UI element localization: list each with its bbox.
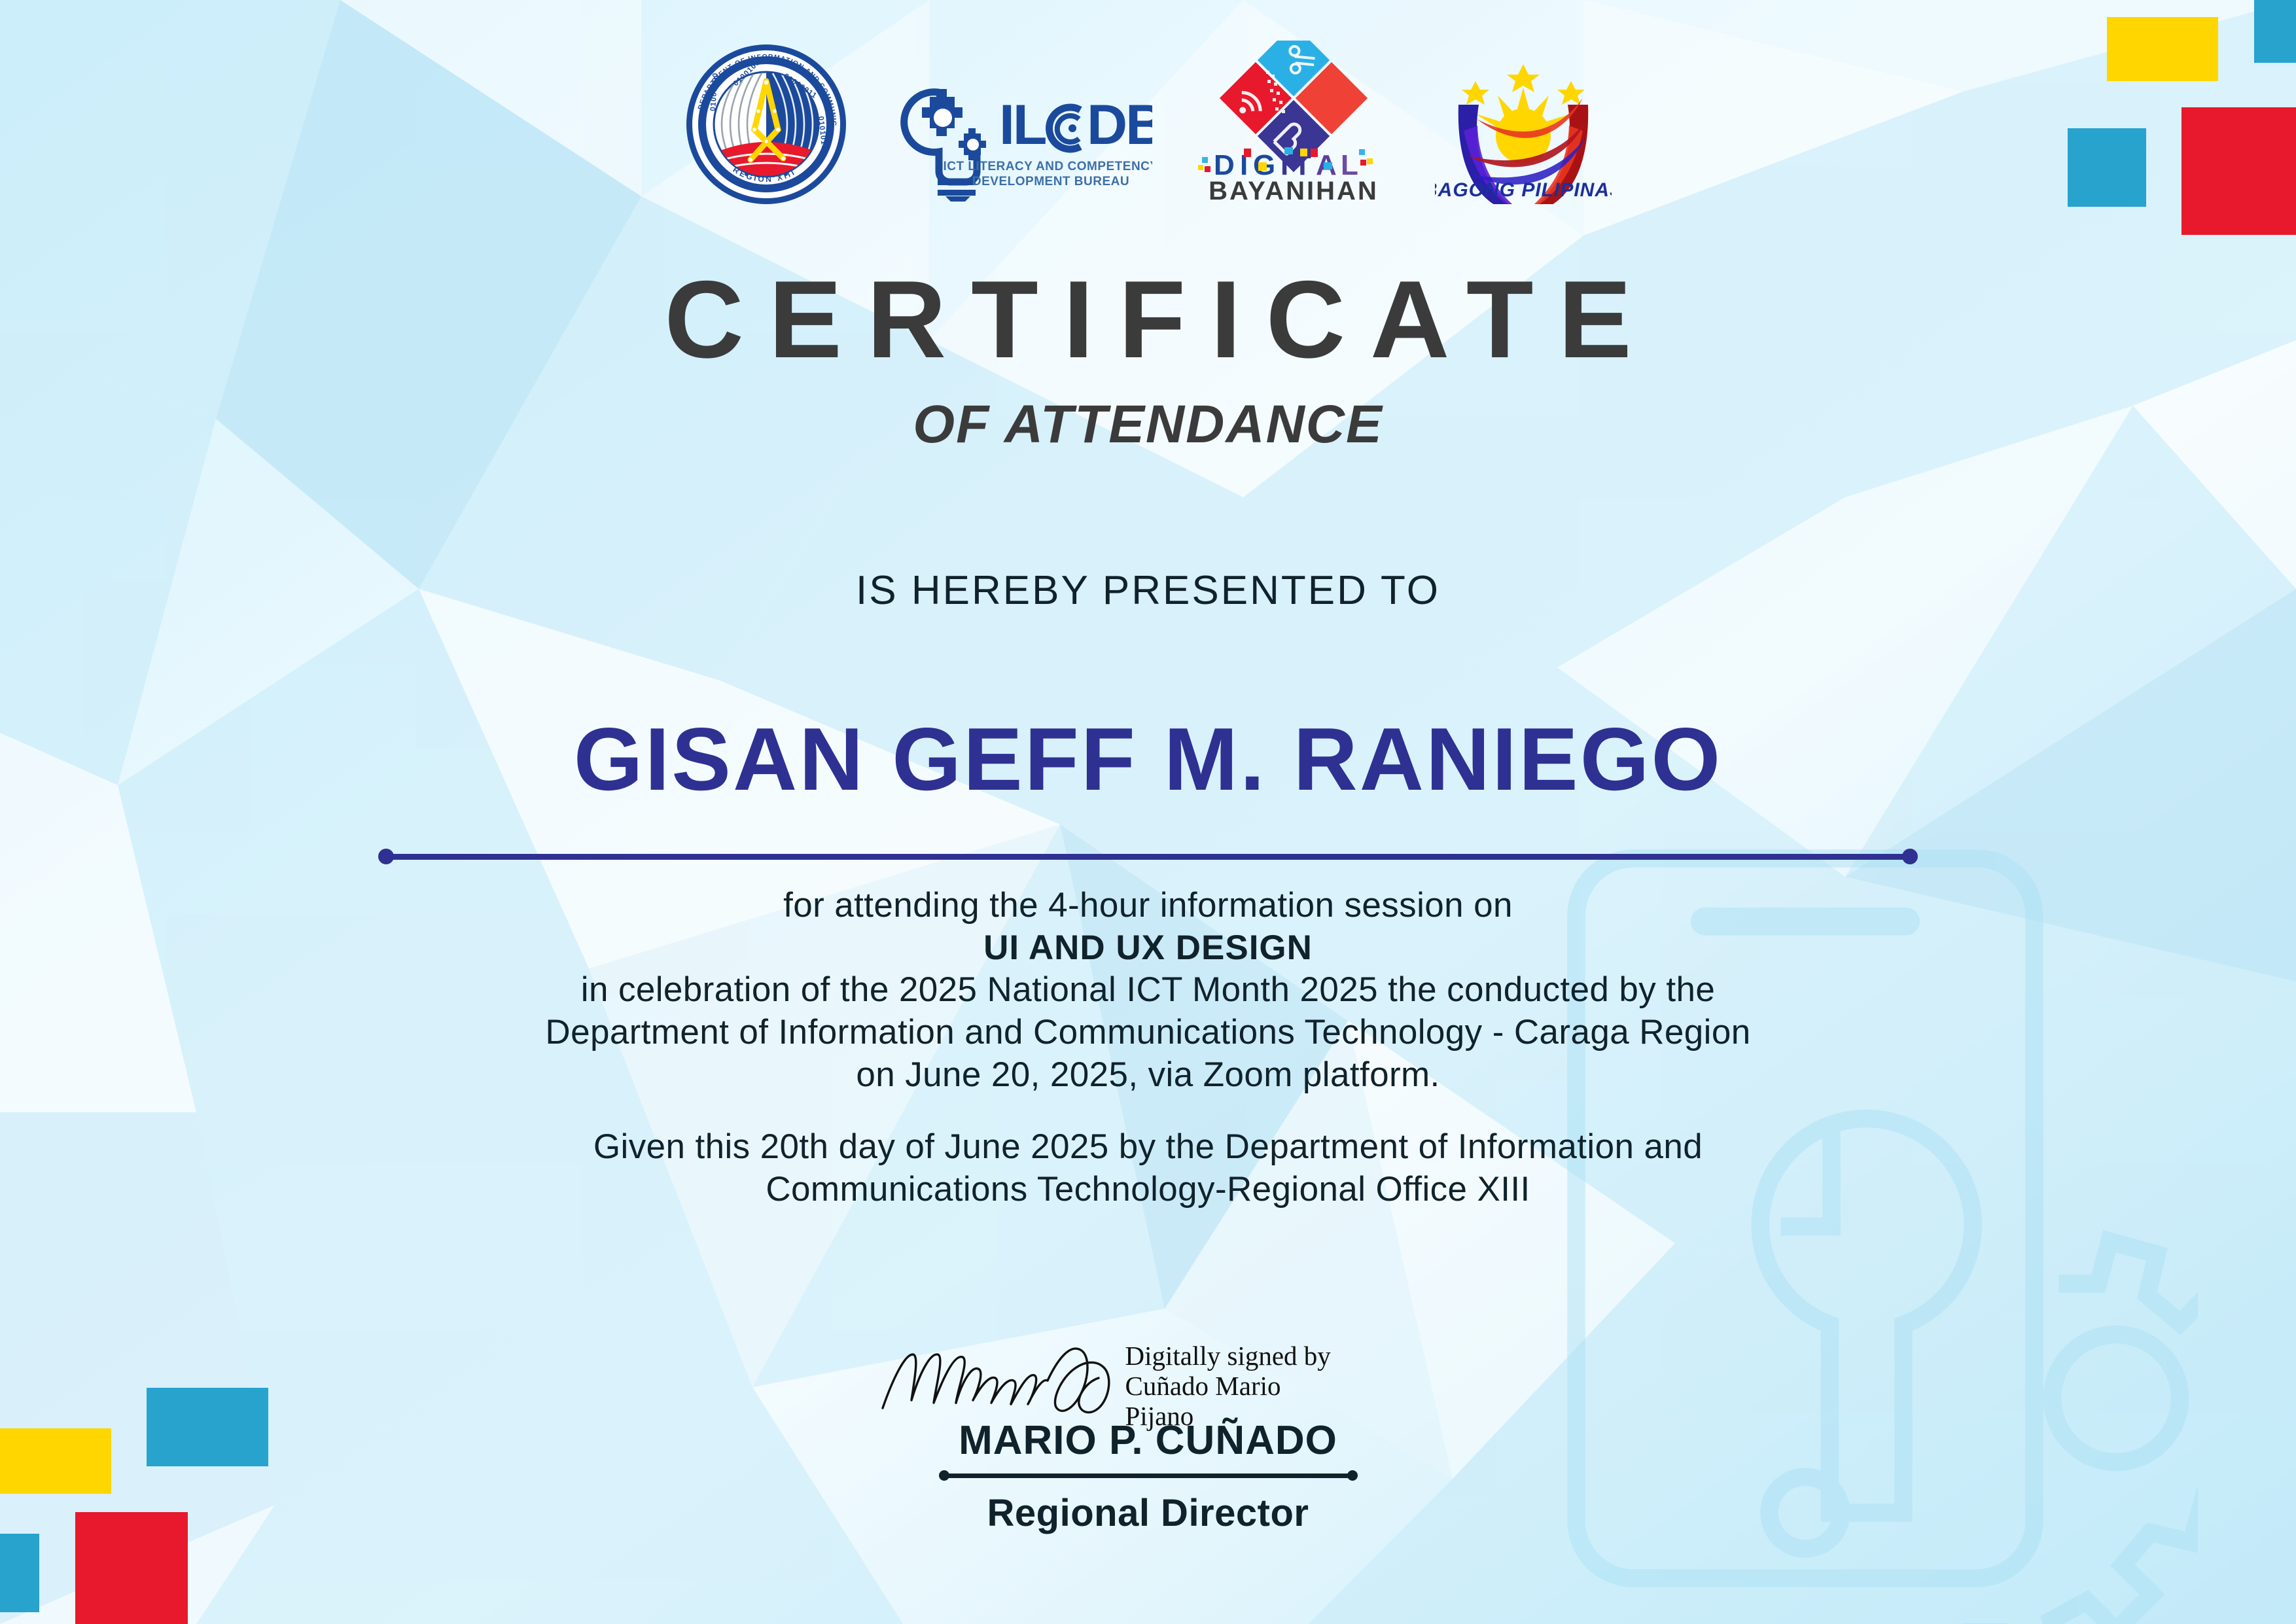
presented-to-label: IS HEREBY PRESENTED TO [0, 571, 2296, 611]
svg-text:BAGONG PILIPINAS: BAGONG PILIPINAS [1435, 179, 1612, 201]
dict-seal-icon: DEPARTMENT OF INFORMATION AND COMMUNICAT… [685, 43, 847, 205]
svg-text:ICT LITERACY AND COMPETENCY: ICT LITERACY AND COMPETENCY [943, 160, 1152, 173]
digital-sig-line-2: Cuñado Mario [1125, 1371, 1400, 1402]
body-line-3: Department of Information and Communicat… [0, 1012, 2296, 1054]
svg-text:DEVELOPMENT BUREAU: DEVELOPMENT BUREAU [972, 175, 1129, 188]
signature-divider-bar [945, 1474, 1351, 1478]
dict-seal-logo: DEPARTMENT OF INFORMATION AND COMMUNICAT… [685, 43, 847, 205]
digital-bayanihan-icon: D I G I T A L BAYANIHAN [1195, 41, 1392, 204]
svg-text:BAYANIHAN: BAYANIHAN [1209, 177, 1379, 204]
logo-row: DEPARTMENT OF INFORMATION AND COMMUNICAT… [0, 41, 2296, 205]
body-spacer [0, 1096, 2296, 1126]
body-line-5: Given this 20th day of June 2025 by the … [0, 1126, 2296, 1169]
signature-divider [939, 1470, 1358, 1481]
body-line-4: on June 20, 2025, via Zoom platform. [0, 1054, 2296, 1097]
divider-dot-right [1902, 849, 1918, 864]
digital-sig-line-1: Digitally signed by [1125, 1341, 1400, 1371]
certificate-body: for attending the 4-hour information ses… [0, 885, 2296, 1211]
body-line-2: in celebration of the 2025 National ICT … [0, 969, 2296, 1012]
svg-text:DB: DB [1087, 94, 1152, 156]
body-line-6: Communications Technology-Regional Offic… [0, 1169, 2296, 1211]
course-title: UI AND UX DESIGN [0, 927, 2296, 970]
ilcdb-icon: IL DB ICT LITERACY AND COMPETENCY DEVELO… [891, 71, 1152, 202]
divider-bar [389, 854, 1907, 860]
recipient-name: GISAN GEFF M. RANIEGO [0, 715, 2296, 803]
signature-divider-dot-right [1347, 1470, 1358, 1481]
page-title: CERTIFICATE [0, 264, 2296, 374]
deco-block-blue-bottom-left-lower [0, 1534, 39, 1612]
certificate-page: DEPARTMENT OF INFORMATION AND COMMUNICAT… [0, 0, 2296, 1624]
bagong-pilipinas-icon: BAGONG PILIPINAS [1435, 41, 1612, 204]
name-divider [380, 852, 1916, 860]
ilcdb-logo: IL DB ICT LITERACY AND COMPETENCY DEVELO… [891, 71, 1152, 202]
signature-block: Digitally signed by Cuñado Mario Pijano … [0, 1340, 2296, 1535]
signatory-name: MARIO P. CUÑADO [959, 1417, 1337, 1464]
signatory-role: Regional Director [987, 1491, 1309, 1535]
bagong-pilipinas-logo: BAGONG PILIPINAS [1435, 41, 1612, 204]
digital-bayanihan-logo: D I G I T A L BAYANIHAN [1195, 41, 1392, 204]
svg-text:IL: IL [999, 94, 1046, 156]
page-subtitle: OF ATTENDANCE [0, 398, 2296, 451]
body-line-1: for attending the 4-hour information ses… [0, 885, 2296, 927]
